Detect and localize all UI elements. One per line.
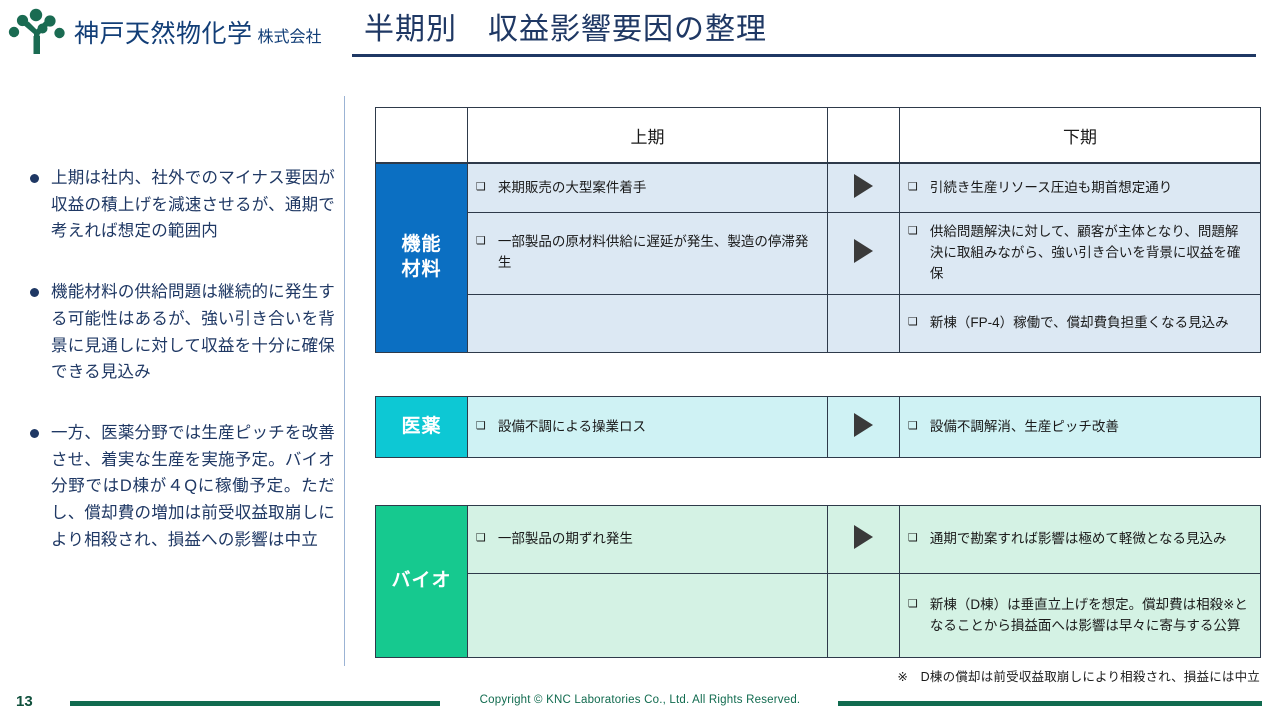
cell-arrow [828,164,900,213]
cell-first-half: ❑ 一部製品の期ずれ発生 [468,506,828,574]
table-row: ❑ 一部製品の原材料供給に遅延が発生、製造の停滞発生 ❑ 供給問題解決に対して、… [376,213,1261,295]
category-line-1: 機能 [376,233,467,258]
cell-arrow [828,213,900,295]
category-line-2: 材料 [376,258,467,283]
list-item: 機能材料の供給問題は継続的に発生する可能性はあるが、強い引き合いを背景に見通しに… [30,279,335,386]
cell-text: 一部製品の原材料供給に遅延が発生、製造の停滞発生 [498,232,817,274]
slide-footer: 13 Copyright © KNC Laboratories Co., Ltd… [0,690,1280,720]
cell-text: 新棟（D棟）は垂直立上げを想定。償却費は相殺※となることから損益面へは影響は早々… [930,595,1250,637]
square-bullet-icon: ❑ [908,222,918,241]
section-pharmaceuticals: 医薬 ❑ 設備不調による操業ロス ❑ 設備不調解消、生産ピッチ改善 [375,396,1261,458]
bullet-text: 一方、医薬分野では生産ピッチを改善させ、着実な生産を実施予定。バイオ分野ではD棟… [51,420,335,554]
cell-second-half: ❑ 新棟（FP-4）稼働で、償却費負担重くなる見込み [900,294,1261,352]
bullet-text: 機能材料の供給問題は継続的に発生する可能性はあるが、強い引き合いを背景に見通しに… [51,279,335,386]
square-bullet-icon: ❑ [908,595,918,614]
cell-first-half: ❑ 一部製品の原材料供給に遅延が発生、製造の停滞発生 [468,213,828,295]
title-underline [352,54,1256,57]
cell-first-half: ❑ 設備不調による操業ロス [468,397,828,458]
list-item: 上期は社内、社外でのマイナス要因が収益の積上げを減速させるが、通期で考えれば想定… [30,165,335,245]
square-bullet-icon: ❑ [908,178,918,197]
cell-arrow-empty [828,294,900,352]
cell-text: 供給問題解決に対して、顧客が主体となり、問題解決に取組みながら、強い引き合いを背… [930,222,1250,285]
table-row: 医薬 ❑ 設備不調による操業ロス ❑ 設備不調解消、生産ピッチ改善 [376,397,1261,458]
company-name: 神戸天然物化学 株式会社 [74,14,322,50]
square-bullet-icon: ❑ [476,178,486,197]
company-logo: 神戸天然物化学 株式会社 [8,8,322,56]
square-bullet-icon: ❑ [476,232,486,251]
arrow-right-icon [854,413,873,437]
cell-text: 設備不調解消、生産ピッチ改善 [930,417,1250,438]
bullet-dot-icon [30,174,39,183]
cell-text: 引続き生産リソース圧迫も期首想定通り [930,178,1250,199]
cell-first-half: ❑ 来期販売の大型案件着手 [468,164,828,213]
header-cell-category [376,108,468,163]
footnote: ※ D棟の償却は前受収益取崩しにより相殺され、損益には中立 [897,666,1260,685]
slide-root: 神戸天然物化学 株式会社 半期別 収益影響要因の整理 上期は社内、社外でのマイナ… [0,0,1280,720]
header-cell-first-half: 上期 [468,108,828,163]
cell-arrow-empty [828,574,900,658]
cell-second-half: ❑ 供給問題解決に対して、顧客が主体となり、問題解決に取組みながら、強い引き合い… [900,213,1261,295]
vertical-divider [344,96,345,666]
cell-first-half-empty [468,294,828,352]
bullet-text: 上期は社内、社外でのマイナス要因が収益の積上げを減速させるが、通期で考えれば想定… [51,165,335,245]
arrow-right-icon [854,174,873,198]
category-label-pharmaceuticals: 医薬 [376,397,468,458]
header-cell-arrow [828,108,900,163]
table-row: 上期 下期 [376,108,1261,163]
category-label-bio: バイオ [376,506,468,658]
footer-rule-right [838,701,1262,706]
cell-arrow [828,397,900,458]
header-cell-second-half: 下期 [900,108,1261,163]
section-functional-materials: 機能 材料 ❑ 来期販売の大型案件着手 ❑ 引続き生産リソース圧迫も期首想定通り [375,163,1261,353]
table-row: ❑ 新棟（D棟）は垂直立上げを想定。償却費は相殺※となることから損益面へは影響は… [376,574,1261,658]
square-bullet-icon: ❑ [908,417,918,436]
list-item: 一方、医薬分野では生産ピッチを改善させ、着実な生産を実施予定。バイオ分野ではD棟… [30,420,335,554]
bullet-dot-icon [30,429,39,438]
cell-second-half: ❑ 新棟（D棟）は垂直立上げを想定。償却費は相殺※となることから損益面へは影響は… [900,574,1261,658]
summary-bullet-list: 上期は社内、社外でのマイナス要因が収益の積上げを減速させるが、通期で考えれば想定… [30,165,335,588]
arrow-right-icon [854,239,873,263]
company-name-suffix: 株式会社 [258,23,322,47]
table-row: バイオ ❑ 一部製品の期ずれ発生 ❑ 通期で勘案すれば影響は極めて軽微となる見込… [376,506,1261,574]
cell-text: 通期で勘案すれば影響は極めて軽微となる見込み [930,529,1250,550]
cell-arrow [828,506,900,574]
cell-second-half: ❑ 設備不調解消、生産ピッチ改善 [900,397,1261,458]
table-row: 機能 材料 ❑ 来期販売の大型案件着手 ❑ 引続き生産リソース圧迫も期首想定通り [376,164,1261,213]
cell-text: 新棟（FP-4）稼働で、償却費負担重くなる見込み [930,313,1250,334]
category-label-functional-materials: 機能 材料 [376,164,468,353]
title-block: 半期別 収益影響要因の整理 [352,8,1256,57]
cell-text: 設備不調による操業ロス [498,417,817,438]
tree-logo-icon [8,8,66,56]
cell-first-half-empty [468,574,828,658]
table-header: 上期 下期 [375,107,1261,163]
arrow-right-icon [854,525,873,549]
cell-second-half: ❑ 通期で勘案すれば影響は極めて軽微となる見込み [900,506,1261,574]
bullet-dot-icon [30,288,39,297]
square-bullet-icon: ❑ [476,529,486,548]
section-bio: バイオ ❑ 一部製品の期ずれ発生 ❑ 通期で勘案すれば影響は極めて軽微となる見込… [375,505,1261,658]
company-name-main: 神戸天然物化学 [74,14,253,50]
page-title: 半期別 収益影響要因の整理 [352,8,1256,52]
cell-text: 来期販売の大型案件着手 [498,178,817,199]
square-bullet-icon: ❑ [908,529,918,548]
square-bullet-icon: ❑ [476,417,486,436]
cell-text: 一部製品の期ずれ発生 [498,529,817,550]
square-bullet-icon: ❑ [908,313,918,332]
table-row: ❑ 新棟（FP-4）稼働で、償却費負担重くなる見込み [376,294,1261,352]
cell-second-half: ❑ 引続き生産リソース圧迫も期首想定通り [900,164,1261,213]
